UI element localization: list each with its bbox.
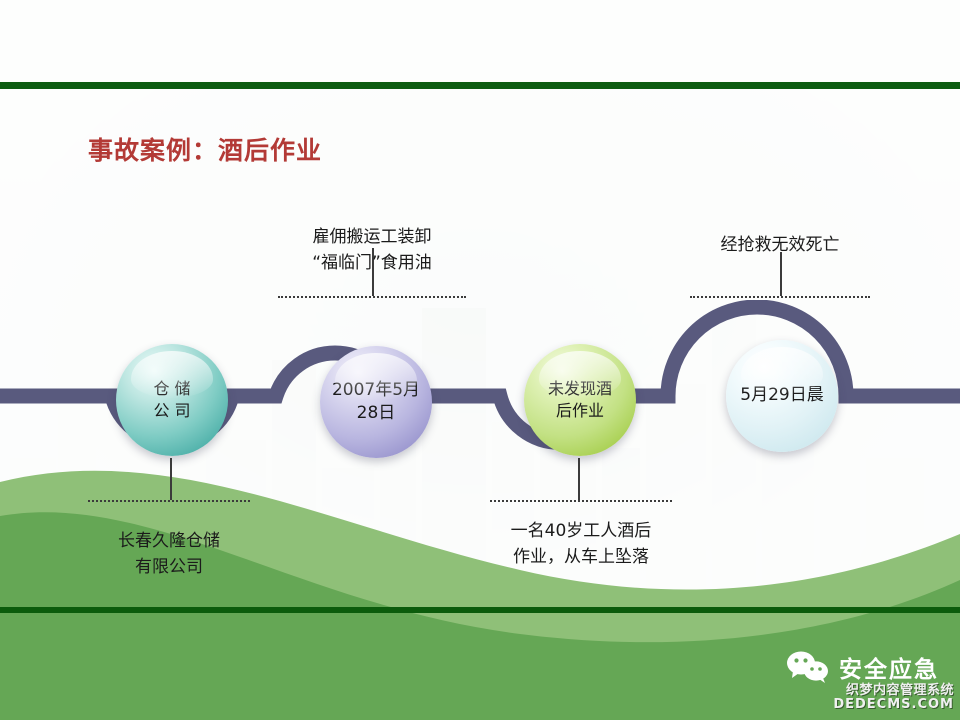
timeline-node-4-label: 5月29日晨 xyxy=(734,384,829,407)
leader-dots xyxy=(490,500,672,502)
wave-accent-rule xyxy=(0,607,960,613)
leader-dots xyxy=(278,296,466,298)
timeline-node-3-label: 未发现酒 后作业 xyxy=(542,378,618,422)
timeline-node-3[interactable]: 未发现酒 后作业 xyxy=(524,344,636,456)
callout-node-1: 长春久隆仓储 有限公司 xyxy=(80,528,258,581)
watermark-line-2: DEDECMS.COM xyxy=(833,698,954,712)
leader-stem xyxy=(170,458,172,500)
callout-node-3: 一名40岁工人酒后 作业，从车上坠落 xyxy=(478,518,684,571)
slide-canvas: 事故案例：酒后作业 仓 储 公 司 2007年5月 28日 未发现酒 后作业 5… xyxy=(0,0,960,720)
leader-node-2 xyxy=(278,296,466,344)
top-accent-rule xyxy=(0,82,960,89)
leader-stem xyxy=(578,458,580,500)
leader-dots xyxy=(88,500,250,502)
timeline-node-2-label: 2007年5月 28日 xyxy=(326,379,426,426)
brand-block: 安全应急 xyxy=(786,650,939,684)
brand-name: 安全应急 xyxy=(839,650,939,684)
watermark-line-1: 织梦内容管理系统 xyxy=(833,684,954,698)
leader-node-1 xyxy=(88,500,250,501)
leader-node-4 xyxy=(690,296,870,344)
watermark: 织梦内容管理系统 DEDECMS.COM xyxy=(833,684,954,711)
timeline-node-1-label: 仓 储 公 司 xyxy=(147,378,196,422)
leader-dots xyxy=(690,296,870,298)
callout-node-4: 经抢救无效死亡 xyxy=(684,232,876,258)
timeline-node-1[interactable]: 仓 储 公 司 xyxy=(116,344,228,456)
leader-node-3 xyxy=(490,500,672,501)
timeline-node-2[interactable]: 2007年5月 28日 xyxy=(320,346,432,458)
wechat-icon xyxy=(786,650,830,684)
leader-stem xyxy=(780,252,782,296)
callout-node-2: 雇佣搬运工装卸 “福临门”食用油 xyxy=(272,224,472,277)
page-title: 事故案例：酒后作业 xyxy=(88,131,322,167)
timeline-node-4[interactable]: 5月29日晨 xyxy=(726,340,838,452)
